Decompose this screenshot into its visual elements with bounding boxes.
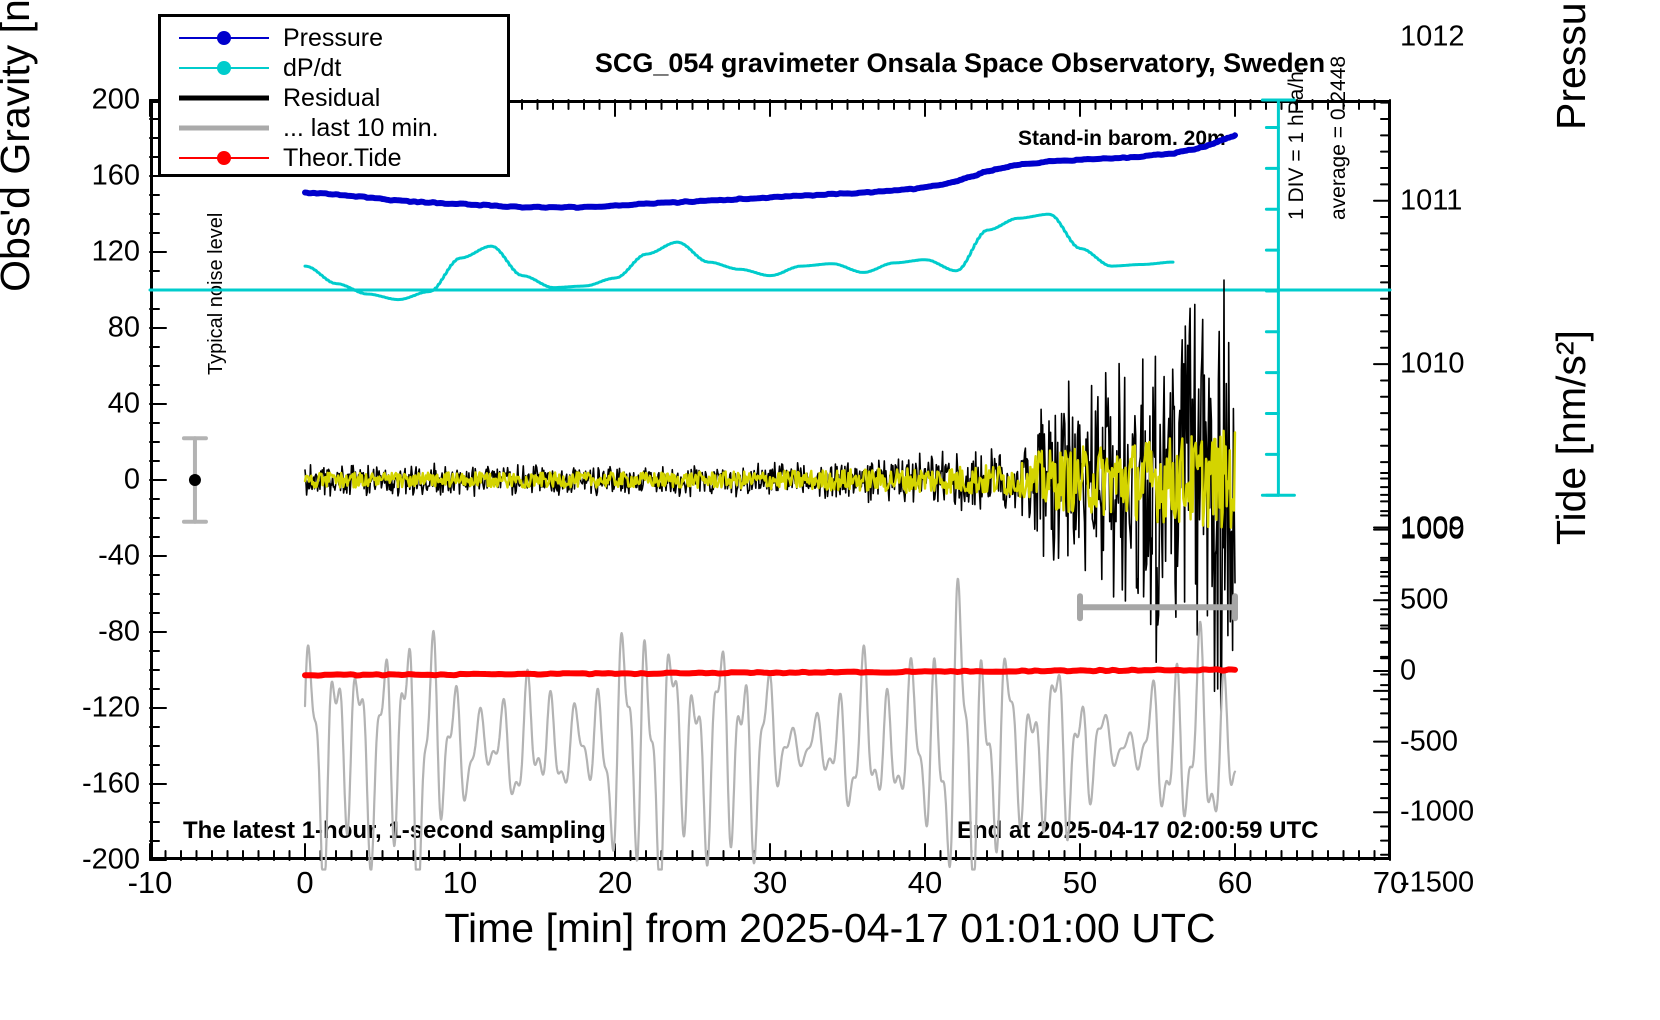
legend-item[interactable]: Residual <box>161 83 507 113</box>
dpdt-scale-bar-ticks <box>1266 128 1278 496</box>
legend-item-label: Pressure <box>283 24 383 53</box>
noise-level-center-dot <box>189 474 201 486</box>
legend-item-label: ... last 10 min. <box>283 114 439 143</box>
axis-tick-marks-y-right <box>1374 103 1390 855</box>
legend-item-label: Theor.Tide <box>283 144 402 173</box>
legend-item[interactable]: Pressure <box>161 23 507 53</box>
legend-swatch-icon <box>179 121 269 135</box>
legend-item-label: dP/dt <box>283 54 341 83</box>
legend-item[interactable]: ... last 10 min. <box>161 113 507 143</box>
legend-swatch-icon <box>179 91 269 105</box>
series-dpdt <box>305 214 1173 299</box>
legend-swatch-icon <box>179 31 269 45</box>
legend: PressuredP/dtResidual... last 10 min.The… <box>158 14 510 177</box>
legend-swatch-icon <box>179 151 269 165</box>
legend-item-label: Residual <box>283 84 380 113</box>
series-last-10-min <box>305 579 1235 870</box>
legend-item[interactable]: dP/dt <box>161 53 507 83</box>
legend-swatch-icon <box>179 61 269 75</box>
axis-tick-marks-y-left <box>150 100 166 860</box>
legend-marker-dot <box>217 61 231 75</box>
legend-item[interactable]: Theor.Tide <box>161 143 507 173</box>
legend-marker-dot <box>217 31 231 45</box>
chart-canvas: SCG_054 gravimeter Onsala Space Observat… <box>0 0 1660 1020</box>
series-theoretical-tide <box>305 669 1235 675</box>
legend-marker-dot <box>217 151 231 165</box>
